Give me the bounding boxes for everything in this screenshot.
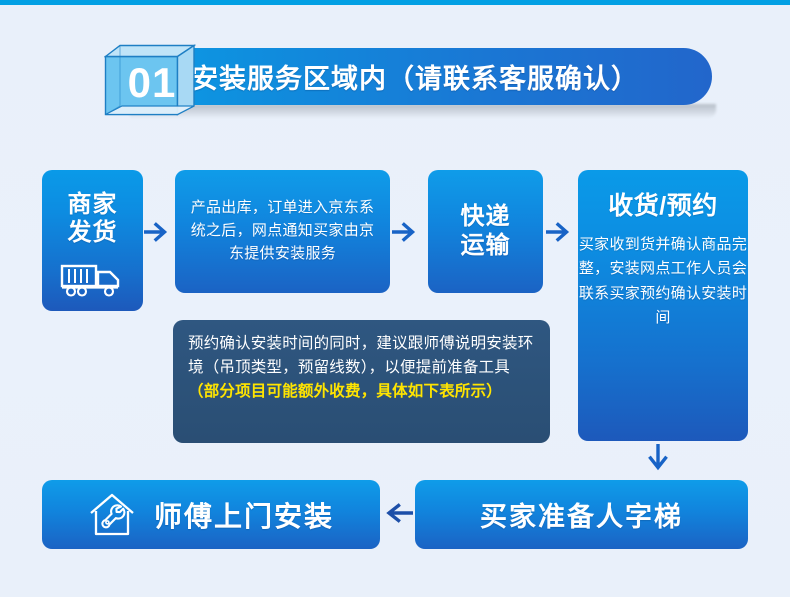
arrow-right-icon (546, 219, 572, 250)
house-wrench-icon (88, 492, 136, 538)
page-title: 安装服务区域内（请联系客服确认） (191, 57, 639, 96)
transport-line-2: 运输 (461, 232, 511, 261)
merchant-line-2: 发货 (68, 219, 118, 247)
warehouse-text: 产品出库，订单进入京东系统之后，网点通知买家由京东提供安装服务 (185, 197, 380, 265)
buyer-ladder-label: 买家准备人字梯 (480, 495, 683, 534)
note-warning-text: （部分项目可能额外收费，具体如下表所示） (188, 380, 535, 404)
delivery-truck-icon (60, 261, 126, 302)
arrow-left-icon (383, 500, 413, 531)
note-text: 预约确认安装时间的同时，建议跟师傅说明安装环境（吊顶类型，预留线数），以便提前准… (188, 332, 535, 380)
arrow-right-icon (144, 219, 170, 250)
infographic-canvas: 安装服务区域内（请联系客服确认） 01 商家 发货 (0, 0, 790, 597)
arrow-right-icon (392, 219, 418, 250)
receive-text: 买家收到货并确认商品完整，安装网点工作人员会联系买家预约确认安装时间 (578, 233, 748, 330)
top-accent-strip (0, 0, 790, 5)
flow-note-box: 预约确认安装时间的同时，建议跟师傅说明安装环境（吊顶类型，预留线数），以便提前准… (173, 320, 550, 443)
flow-box-receive-appointment: 收货/预约 买家收到货并确认商品完整，安装网点工作人员会联系买家预约确认安装时间 (578, 170, 748, 441)
master-install-label: 师傅上门安装 (154, 495, 334, 535)
flow-box-merchant-ship: 商家 发货 (42, 170, 143, 311)
transport-line-1: 快递 (461, 203, 511, 232)
step-number-label: 01 (120, 62, 184, 104)
step-number-cube: 01 (104, 44, 196, 124)
flow-box-buyer-ladder: 买家准备人字梯 (415, 480, 748, 549)
arrow-down-icon (645, 444, 671, 479)
receive-title: 收货/预约 (608, 186, 717, 222)
banner-shadow (130, 104, 716, 118)
merchant-line-1: 商家 (68, 191, 118, 219)
section-header-banner: 安装服务区域内（请联系客服确认） (118, 48, 712, 105)
flow-box-master-install: 师傅上门安装 (42, 480, 380, 549)
flow-box-warehouse-out: 产品出库，订单进入京东系统之后，网点通知买家由京东提供安装服务 (175, 170, 390, 293)
flow-box-express-transport: 快递 运输 (428, 170, 543, 293)
